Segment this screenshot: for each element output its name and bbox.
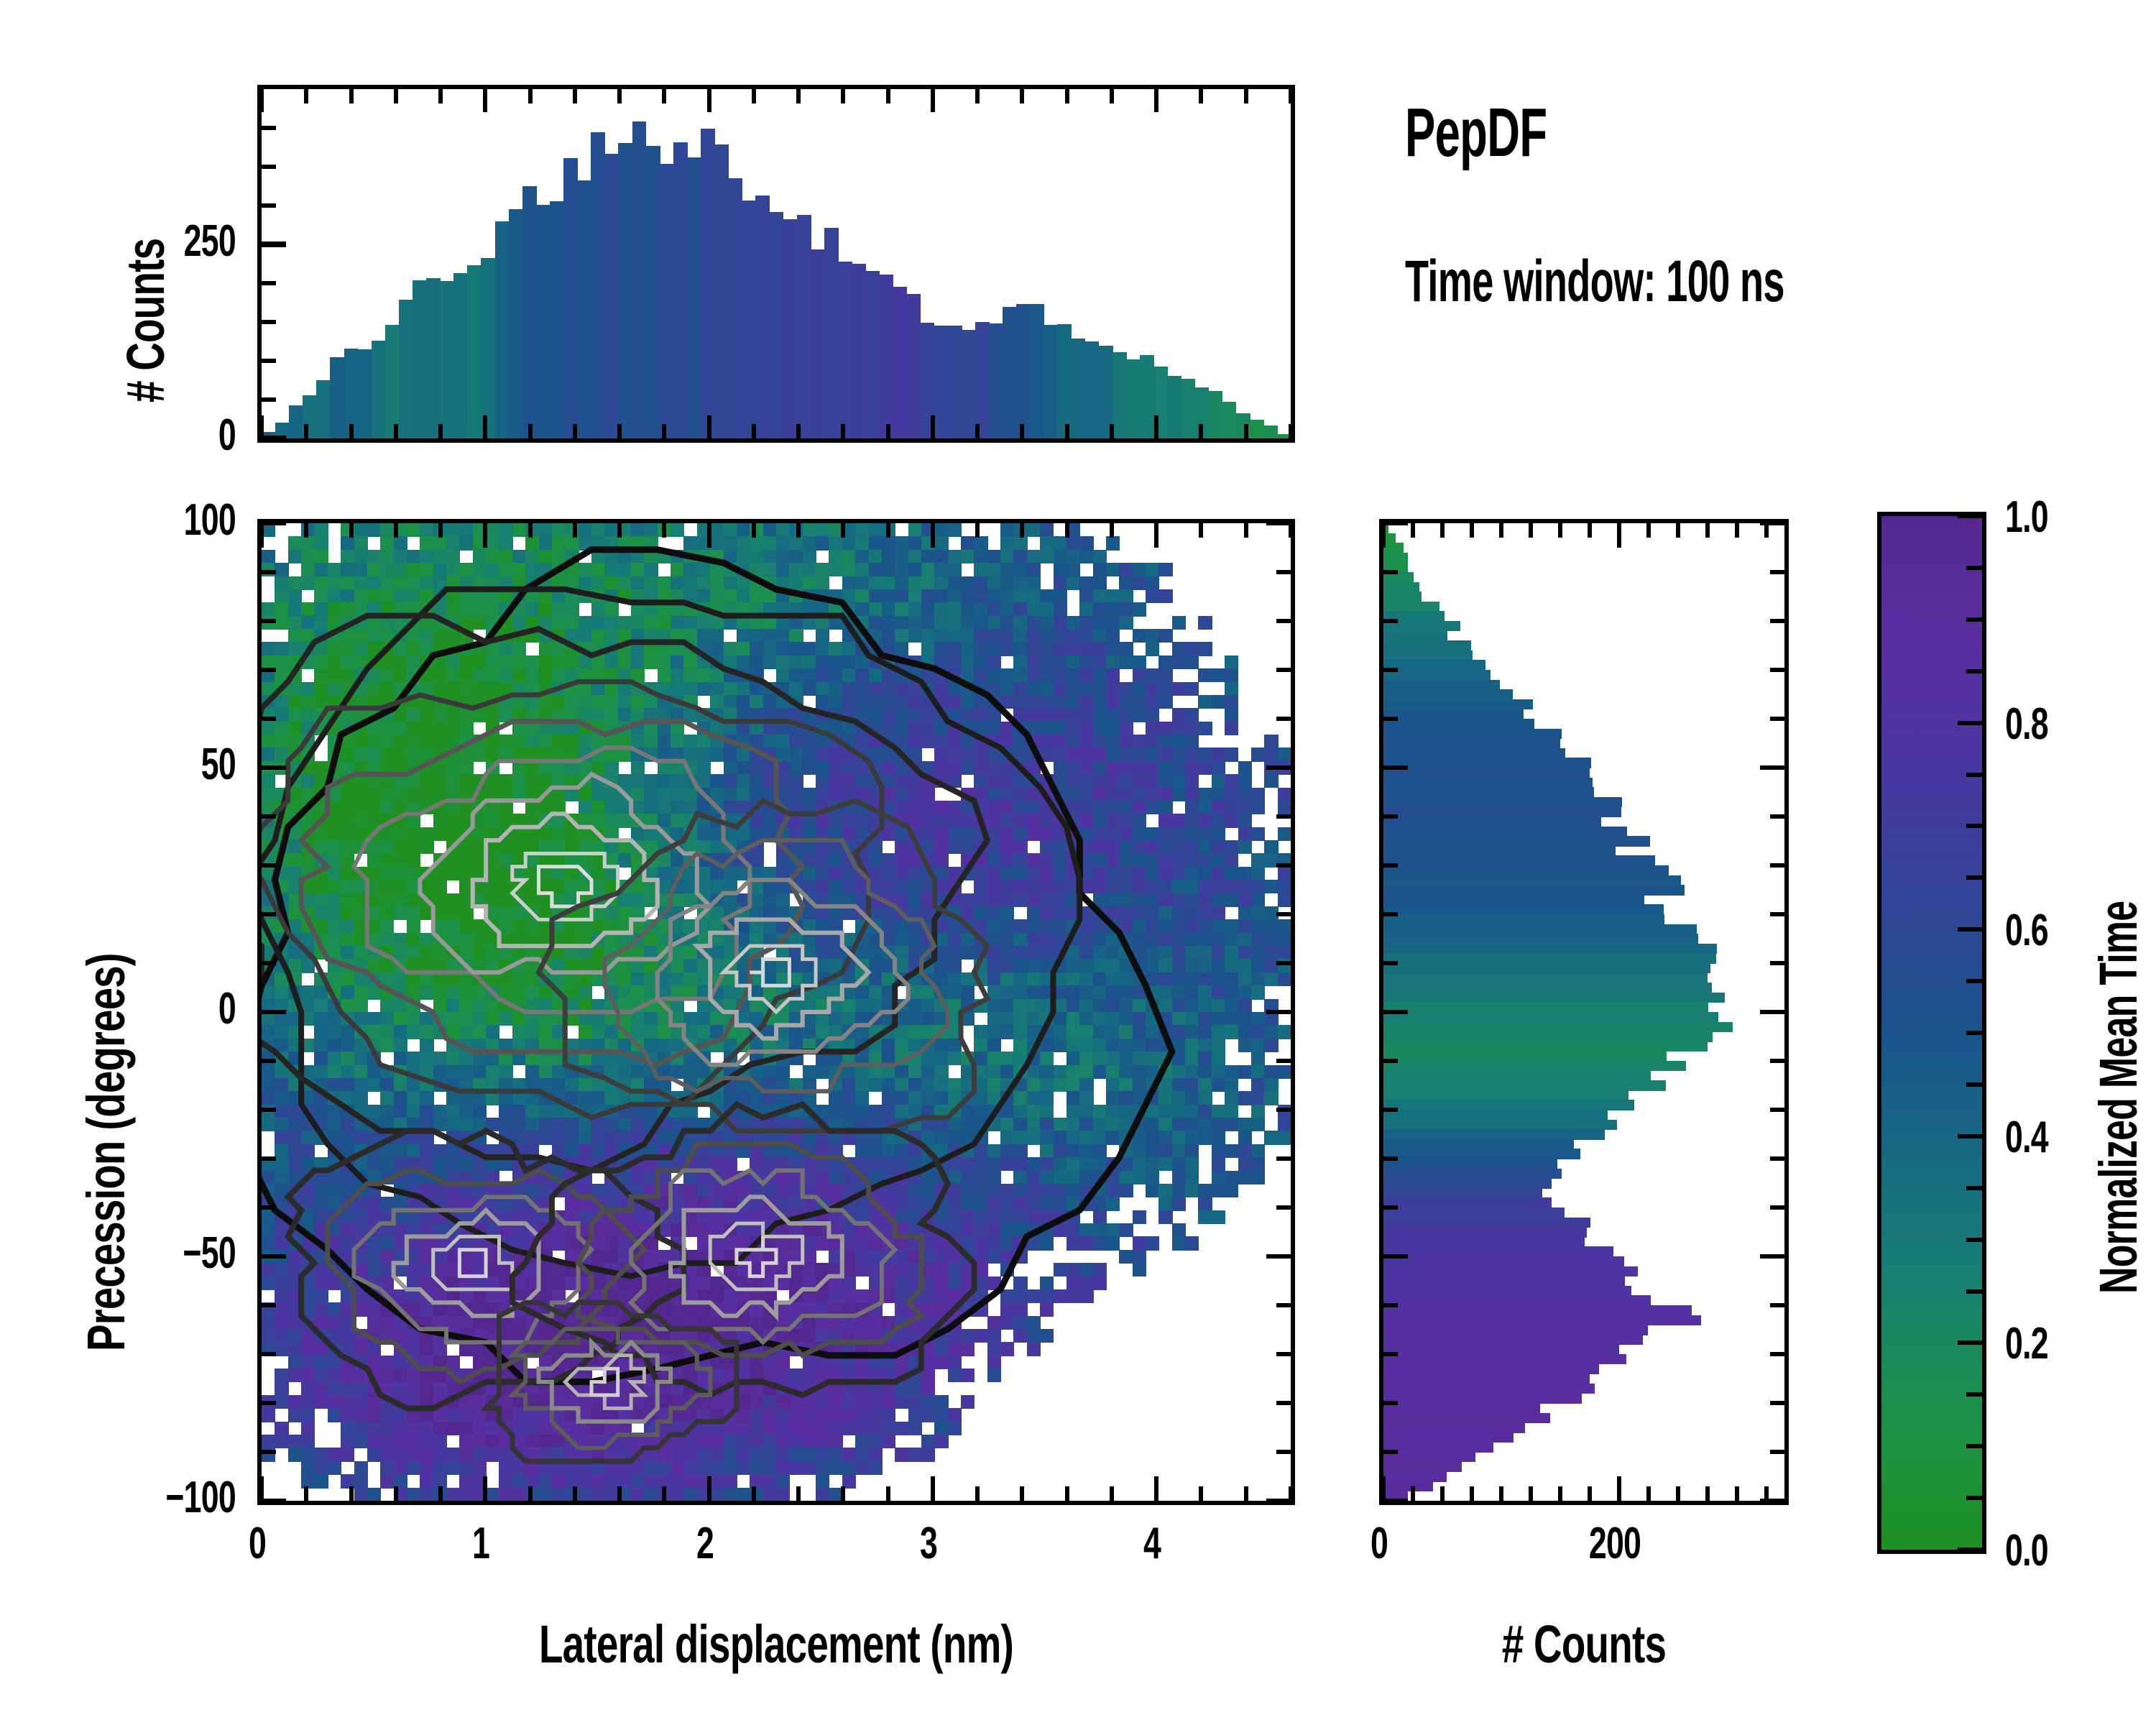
- axis-tick: [1244, 424, 1248, 438]
- axis-tick: [975, 424, 980, 438]
- axis-tick: [528, 424, 533, 438]
- axis-tick: [262, 281, 276, 285]
- axis-tick: [1289, 424, 1291, 438]
- axis-tick: [1020, 424, 1024, 438]
- axis-tick: [528, 89, 533, 103]
- axis-tick: [483, 89, 487, 112]
- axis-tick: [841, 424, 845, 438]
- axis-tick: [931, 415, 935, 438]
- axis-tick: [262, 126, 276, 130]
- axis-tick: [304, 89, 308, 103]
- figure-subtitle: Time window: 100 ns: [1405, 248, 1784, 316]
- axis-tick: [394, 89, 398, 103]
- axis-tick: [841, 89, 845, 103]
- main-heatmap-axes: [257, 519, 1295, 1505]
- axis-tick: [262, 203, 276, 208]
- axis-tick: [304, 424, 308, 438]
- axis-tick: [1065, 89, 1069, 103]
- axis-tick: [573, 424, 577, 438]
- top-histogram-ytick-label: 250: [184, 216, 236, 267]
- axis-tick: [1065, 424, 1069, 438]
- axis-tick: [262, 397, 276, 402]
- axis-tick: [975, 89, 980, 103]
- top-histogram-ticks: [262, 89, 1291, 438]
- top-marginal-histogram-axes: [257, 85, 1295, 443]
- axis-tick: [796, 424, 801, 438]
- axis-tick: [262, 89, 264, 112]
- axis-tick: [262, 415, 264, 438]
- axis-tick: [707, 89, 711, 112]
- axis-tick: [262, 436, 286, 438]
- axis-tick: [1110, 424, 1114, 438]
- axis-tick: [931, 89, 935, 112]
- axis-tick: [886, 424, 890, 438]
- axis-tick: [1244, 89, 1248, 103]
- axis-tick: [752, 89, 756, 103]
- axis-tick: [796, 89, 801, 103]
- axis-tick: [394, 424, 398, 438]
- axis-tick: [707, 415, 711, 438]
- figure-canvas: 0250 # Counts PepDF Time window: 100 ns …: [0, 0, 2156, 1725]
- axis-tick: [886, 89, 890, 103]
- axis-tick: [438, 424, 443, 438]
- axis-tick: [349, 424, 354, 438]
- axis-tick: [752, 424, 756, 438]
- axis-tick: [262, 241, 286, 247]
- axis-tick: [262, 320, 276, 324]
- axis-tick: [1199, 424, 1203, 438]
- axis-tick: [573, 89, 577, 103]
- axis-tick: [1154, 415, 1158, 438]
- axis-tick: [483, 415, 487, 438]
- axis-tick: [1154, 89, 1158, 112]
- axis-tick: [1110, 89, 1114, 103]
- axis-tick: [617, 89, 622, 103]
- axis-tick: [617, 424, 622, 438]
- axis-tick: [1199, 89, 1203, 103]
- top-histogram-ylabel: # Counts: [115, 239, 176, 402]
- axis-tick: [1289, 89, 1291, 103]
- axis-tick: [262, 165, 276, 169]
- axis-tick: [349, 89, 354, 103]
- axis-tick: [662, 424, 666, 438]
- axis-tick: [262, 359, 276, 363]
- axis-tick: [438, 89, 443, 103]
- top-histogram-ytick-label: 0: [218, 410, 236, 461]
- axis-tick: [662, 89, 666, 103]
- axis-tick: [1020, 89, 1024, 103]
- figure-title: PepDF: [1405, 93, 1547, 172]
